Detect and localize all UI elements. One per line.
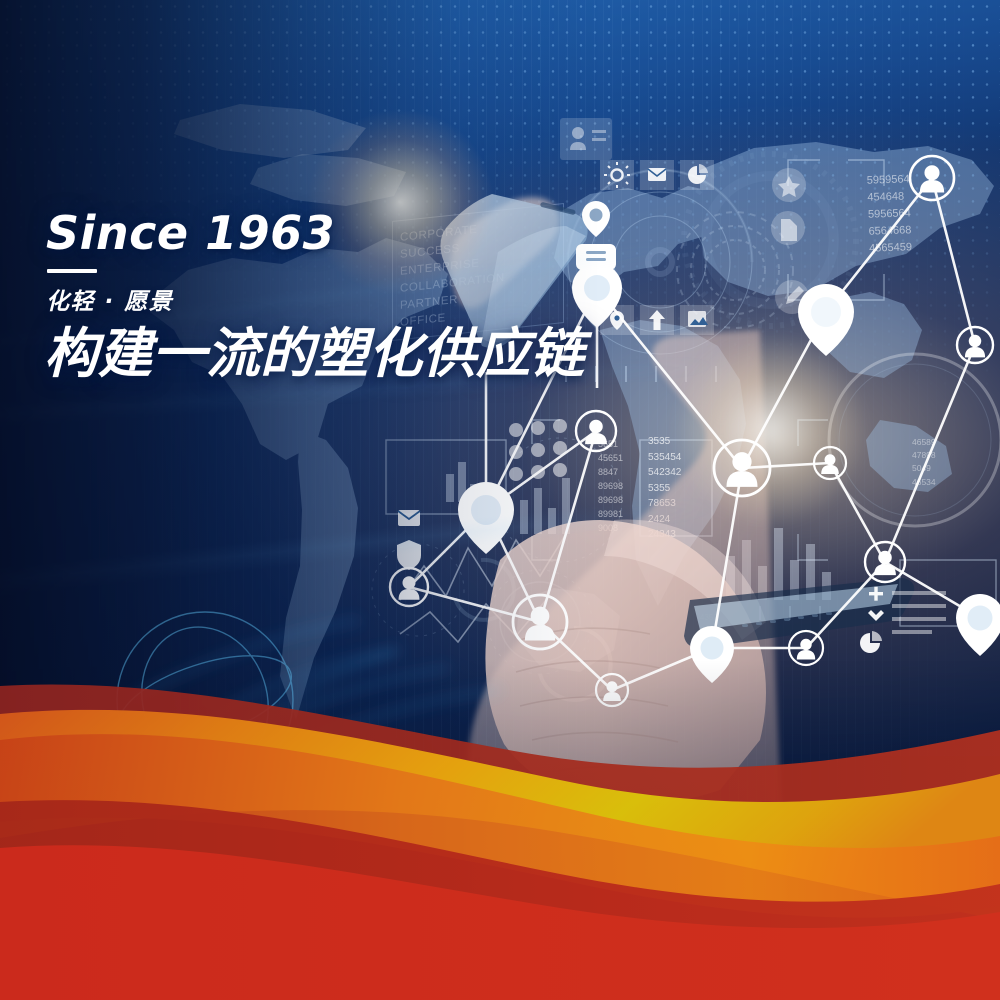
headline-divider xyxy=(47,269,97,273)
page-title: 构建一流的塑化供应链 xyxy=(44,325,666,383)
bottom-wave-decoration xyxy=(0,670,1000,1000)
page-eyebrow: Since 1963 xyxy=(46,210,666,256)
page-subtitle: 化轻 · 愿景 xyxy=(46,282,666,316)
banner-canvas: CORPORATE SUCCESS ENTERPRISE COLLABORATI… xyxy=(0,0,1000,1000)
headline-block: Since 1963 化轻 · 愿景 构建一流的塑化供应链 xyxy=(46,210,666,383)
